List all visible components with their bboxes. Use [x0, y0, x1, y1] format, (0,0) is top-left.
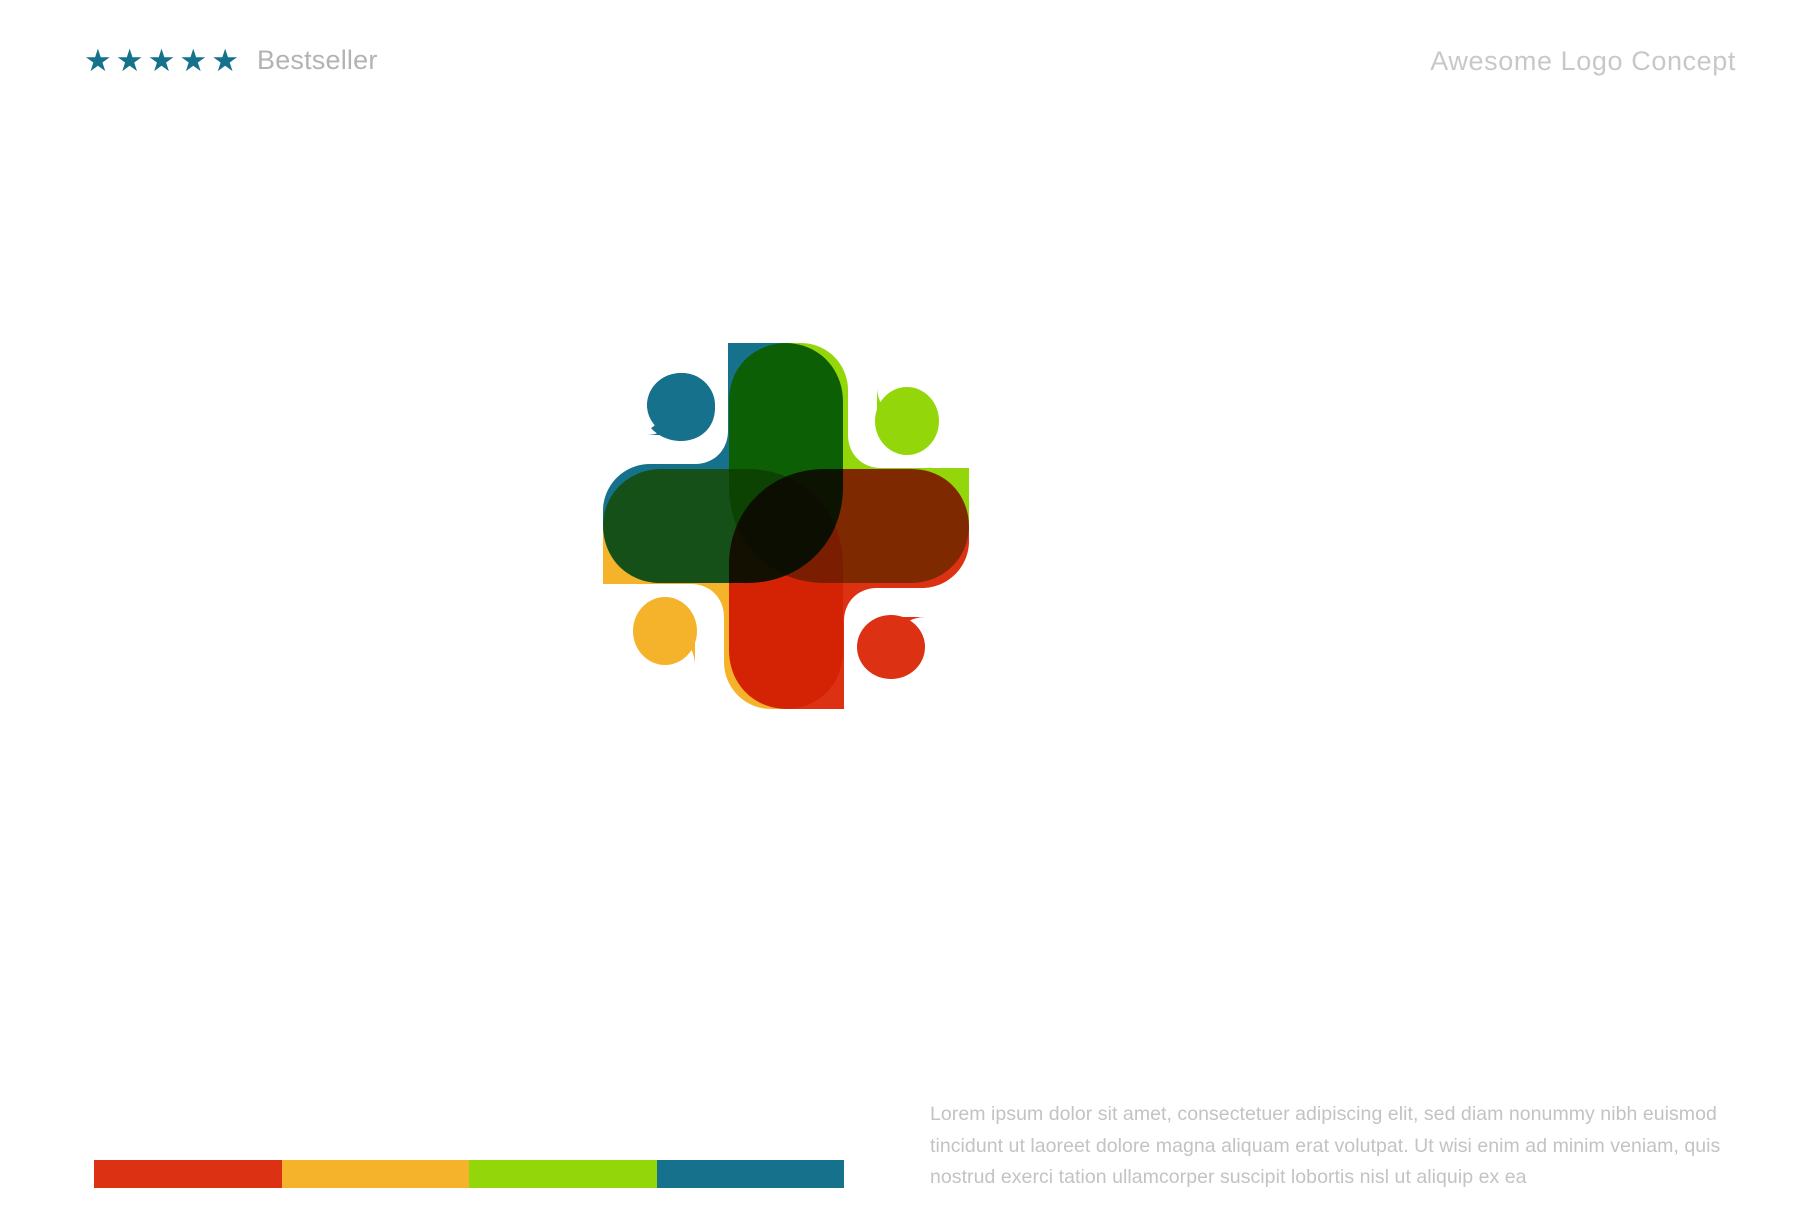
swatch-teal [657, 1160, 845, 1188]
star-icon: ★ [179, 45, 207, 76]
color-palette-bar [94, 1160, 844, 1188]
star-icon: ★ [211, 45, 239, 76]
bestseller-badge: ★ ★ ★ ★ ★ Bestseller [84, 45, 378, 76]
swatch-red [94, 1160, 282, 1188]
page-footer: Lorem ipsum dolor sit amet, consectetuer… [0, 954, 1820, 1214]
swatch-green [469, 1160, 657, 1188]
star-rating: ★ ★ ★ ★ ★ [84, 45, 239, 76]
logo-mark [595, 335, 977, 717]
logo-arm-amber [603, 469, 843, 709]
star-icon: ★ [84, 45, 112, 76]
logo-droplet-green [875, 387, 939, 455]
logo-droplet-teal [647, 373, 715, 441]
page-header: ★ ★ ★ ★ ★ Bestseller Awesome Logo Concep… [0, 0, 1820, 120]
swatch-amber [282, 1160, 470, 1188]
page-title: Awesome Logo Concept [1430, 46, 1736, 77]
logo-droplet-red [857, 615, 925, 679]
star-icon: ★ [148, 45, 176, 76]
description-text: Lorem ipsum dolor sit amet, consectetuer… [930, 1099, 1765, 1194]
bestseller-label: Bestseller [257, 45, 378, 76]
star-icon: ★ [116, 45, 144, 76]
logo-droplet-amber [633, 597, 697, 665]
